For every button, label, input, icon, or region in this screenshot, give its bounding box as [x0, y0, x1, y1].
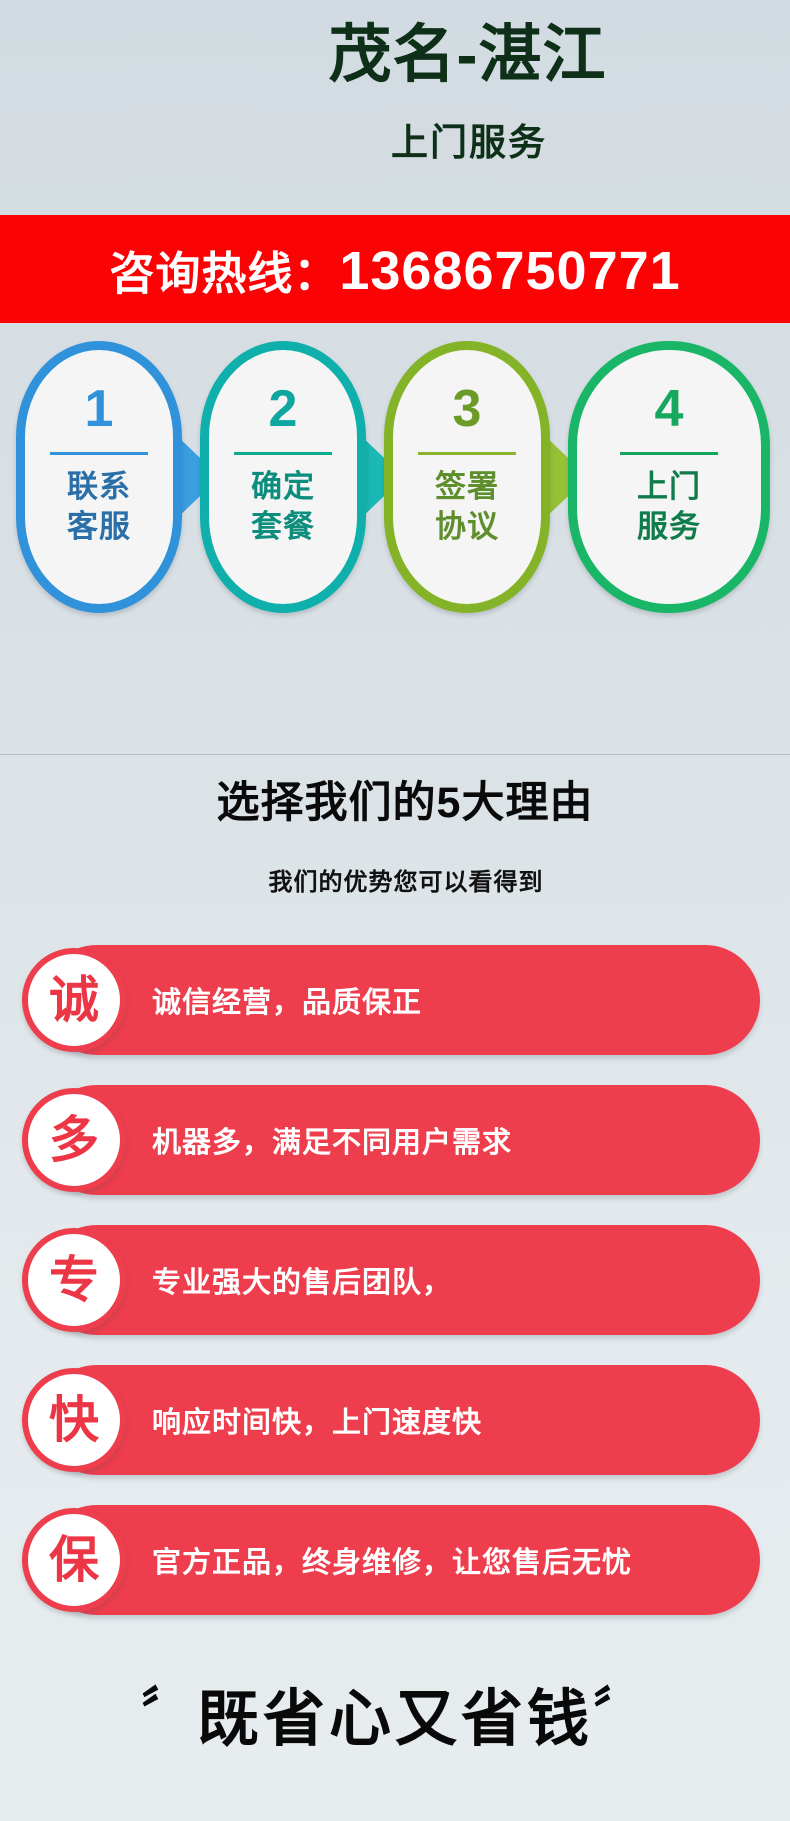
reason-text: 官方正品，终身维修，让您售后无忧	[152, 1505, 632, 1615]
reason-text: 专业强大的售后团队，	[152, 1225, 452, 1335]
step-item-1[interactable]: 1 联系 客服	[16, 341, 182, 613]
step-item-3[interactable]: 3 签署 协议	[384, 341, 550, 613]
step-label-3: 签署 协议	[435, 467, 499, 546]
step-label-2: 确定 套餐	[251, 467, 315, 546]
quote-open-mark: 〞	[141, 1683, 197, 1739]
page-title: 茂名-湛江	[0, 22, 790, 88]
reason-badge-char: 保	[49, 1535, 99, 1585]
reason-text: 诚信经营，品质保正	[152, 945, 422, 1055]
process-steps: 1 联系 客服 2 确定 套餐	[0, 323, 790, 653]
reason-text: 响应时间快，上门速度快	[152, 1365, 482, 1475]
slogan-text: 既省心又省钱	[197, 1685, 593, 1754]
reason-badge: 多	[22, 1088, 126, 1192]
reason-row[interactable]: 多 机器多，满足不同用户需求	[22, 1085, 760, 1195]
section-divider	[0, 754, 790, 755]
step-item-4[interactable]: 4 上门 服务	[568, 341, 770, 613]
reason-row[interactable]: 专 专业强大的售后团队，	[22, 1225, 760, 1335]
step-number-3: 3	[453, 383, 482, 435]
reasons-subheading: 我们的优势您可以看得到	[0, 862, 790, 897]
quote-close-mark: 〞	[593, 1683, 649, 1739]
step-label-1: 联系 客服	[67, 467, 131, 546]
reason-badge: 快	[22, 1368, 126, 1472]
step-number-2: 2	[269, 383, 298, 435]
phone-label: 咨询热线：	[109, 248, 339, 299]
reason-badge-char: 快	[49, 1395, 99, 1445]
footer-slogan: 〞既省心又省钱〞	[0, 1668, 790, 1758]
reason-row[interactable]: 诚 诚信经营，品质保正	[22, 945, 760, 1055]
reason-row[interactable]: 保 官方正品，终身维修，让您售后无忧	[22, 1505, 760, 1615]
step-rule-3	[418, 452, 516, 455]
step-number-4: 4	[655, 383, 684, 435]
step-number-1: 1	[85, 383, 114, 435]
reason-badge-char: 诚	[49, 975, 99, 1025]
reason-text: 机器多，满足不同用户需求	[152, 1085, 512, 1195]
reason-row[interactable]: 快 响应时间快，上门速度快	[22, 1365, 760, 1475]
phone-banner-text: 咨询热线：13686750771	[109, 237, 680, 302]
header: 茂名-湛江 上门服务	[0, 0, 790, 215]
page-subtitle: 上门服务	[0, 112, 790, 166]
step-rule-4	[620, 452, 718, 455]
reason-badge-char: 多	[49, 1115, 99, 1165]
reasons-heading: 选择我们的5大理由	[0, 768, 790, 830]
step-content-3: 3 签署 协议	[384, 341, 550, 613]
reason-badge: 专	[22, 1228, 126, 1332]
step-content-1: 1 联系 客服	[16, 341, 182, 613]
step-item-2[interactable]: 2 确定 套餐	[200, 341, 366, 613]
phone-banner[interactable]: 咨询热线：13686750771	[0, 215, 790, 323]
step-rule-1	[50, 452, 148, 455]
reason-badge-char: 专	[49, 1255, 99, 1305]
step-rule-2	[234, 452, 332, 455]
reason-badge: 诚	[22, 948, 126, 1052]
step-content-2: 2 确定 套餐	[200, 341, 366, 613]
reason-badge: 保	[22, 1508, 126, 1612]
phone-number[interactable]: 13686750771	[339, 241, 680, 301]
step-label-4: 上门 服务	[637, 467, 701, 546]
step-content-4: 4 上门 服务	[568, 341, 770, 613]
